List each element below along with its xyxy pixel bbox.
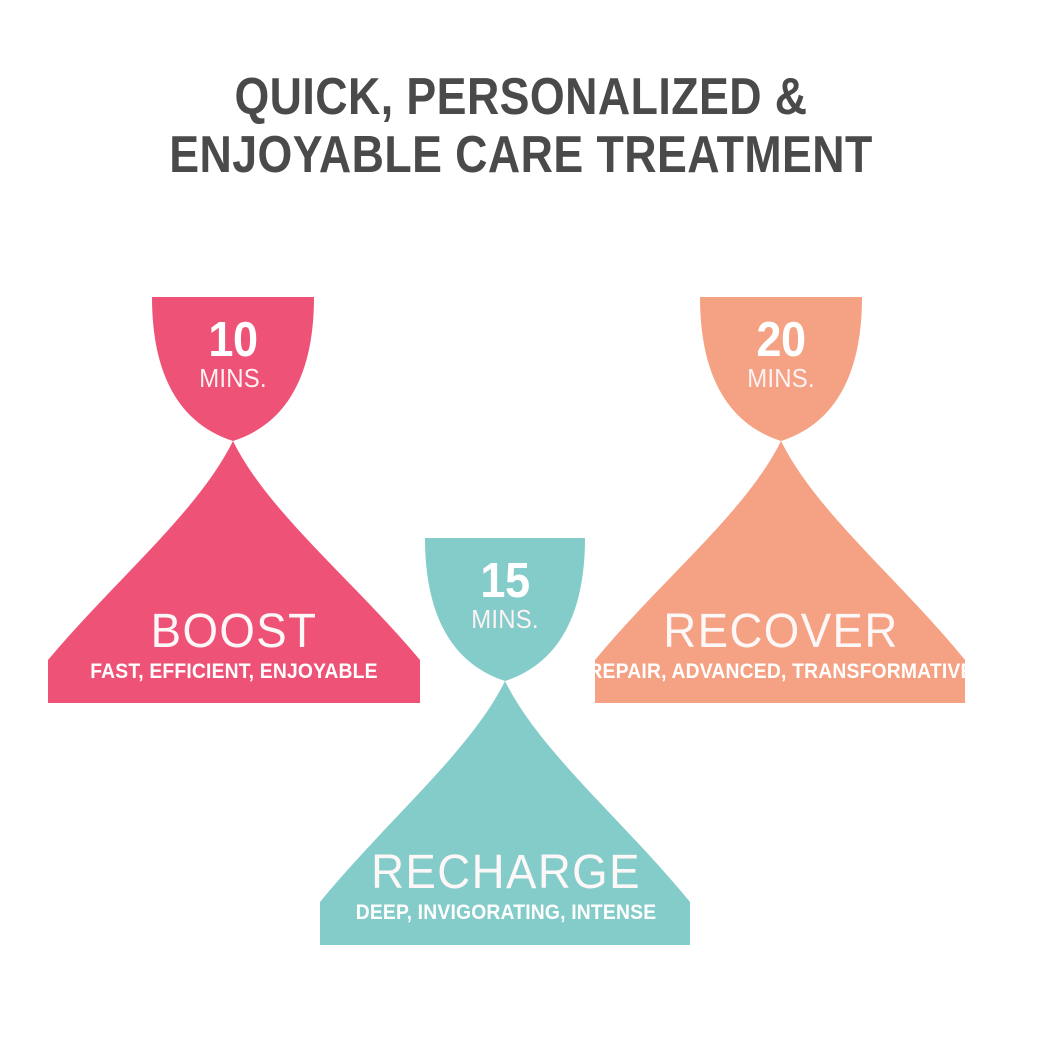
title-line-2: ENJOYABLE CARE TREATMENT [73, 126, 969, 184]
recover-text-block: RECOVER REPAIR, ADVANCED, TRANSFORMATIVE [521, 606, 1041, 684]
boost-duration-unit: MINS. [123, 364, 344, 392]
title-line-1: QUICK, PERSONALIZED & [73, 68, 969, 126]
page-title: QUICK, PERSONALIZED & ENJOYABLE CARE TRE… [0, 68, 1042, 184]
recharge-subhead: DEEP, INVIGORATING, INTENSE [267, 901, 745, 925]
boost-duration-block: 10 MINS. [113, 317, 353, 392]
recharge-duration-value: 15 [395, 558, 616, 605]
recharge-headline: RECHARGE [259, 847, 753, 899]
recover-duration-block: 20 MINS. [661, 317, 901, 392]
boost-subhead: FAST, EFFICIENT, ENJOYABLE [0, 660, 473, 684]
recover-duration-value: 20 [671, 317, 892, 364]
recover-subhead: REPAIR, ADVANCED, TRANSFORMATIVE [542, 660, 1020, 684]
recover-headline: RECOVER [534, 606, 1028, 658]
infographic-canvas: QUICK, PERSONALIZED & ENJOYABLE CARE TRE… [0, 0, 1042, 1042]
recharge-text-block: RECHARGE DEEP, INVIGORATING, INTENSE [246, 847, 766, 925]
boost-duration-value: 10 [123, 317, 344, 364]
recover-duration-unit: MINS. [671, 364, 892, 392]
